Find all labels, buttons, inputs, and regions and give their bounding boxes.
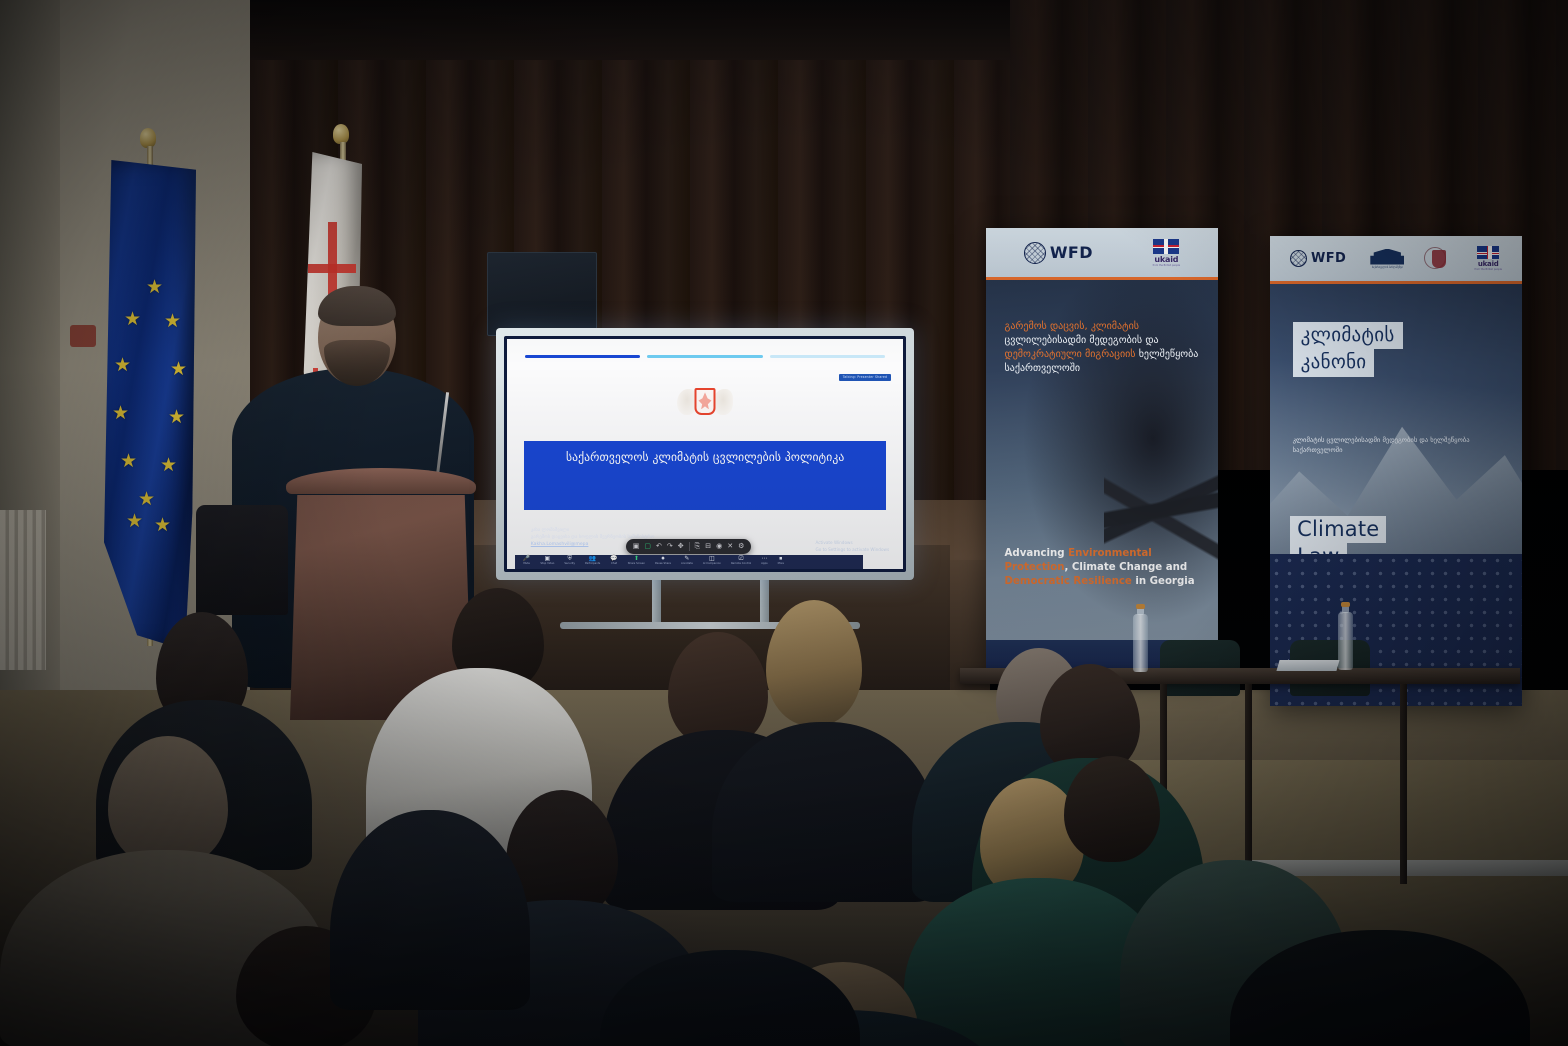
en-seg-5: in Georgia [1132, 576, 1195, 587]
annotate-button[interactable]: ✎ Annotate [681, 556, 693, 566]
spotlight-icon[interactable]: ▢ [644, 543, 651, 550]
geo-line-5: დემოკრატიული [1005, 349, 1082, 360]
remote-control-button[interactable]: ⎚ Remote Control [731, 556, 751, 566]
geo-line-1: გარემოს დაცვის, [1005, 321, 1091, 332]
geo-title-line-2: კანონი [1293, 349, 1375, 376]
banner-right-logo-strip: WFD საქართველოს პარლამენტი ukaid from th… [1270, 236, 1522, 284]
share-screen-button[interactable]: ⬆ Share Screen [628, 556, 645, 566]
tv-stand-leg [760, 580, 769, 624]
windows-activation-watermark: Activate Windows Go to Settings to activ… [815, 540, 889, 553]
mute-button[interactable]: 🎤 Mute [523, 556, 530, 566]
dead-tree-photo [1104, 391, 1218, 631]
pause-share-button[interactable]: ⏺ Pause Share [655, 556, 671, 566]
save-icon[interactable]: ⊟ [705, 543, 711, 550]
geo-title-line-1: კლიმატის [1293, 322, 1403, 349]
toolbar-divider [689, 542, 690, 551]
tv-stand-leg [652, 580, 661, 624]
parliament-building-icon [1370, 249, 1404, 265]
chat-button[interactable]: 💬 Chat [610, 556, 617, 566]
display-bezel: Talking: Presenter Shared საქართველოს კლ… [504, 336, 906, 572]
undo-icon[interactable]: ↶ [656, 543, 662, 550]
geo-line-4: და [1145, 335, 1158, 346]
record-icon[interactable]: ◉ [716, 543, 722, 550]
water-bottle [1338, 612, 1353, 670]
en-title-line-1: Climate [1290, 516, 1386, 543]
credit-speaker-name: კახა ლომაშვილი [531, 527, 655, 534]
flagpole-finial [333, 124, 349, 144]
zoom-annotation-toolbar[interactable]: ▣ ▢ ↶ ↷ ✥ ⎘ ⊟ ◉ ✕ ⚙ [626, 539, 752, 554]
progress-bar-1 [525, 355, 640, 358]
en-seg-3: , Climate Change and [1064, 562, 1187, 573]
participants-button[interactable]: 👥 Participants [585, 556, 600, 566]
watermark-line-2: Go to Settings to activate Windows [815, 547, 889, 553]
flagpole-finial [140, 128, 156, 148]
display-screen: Talking: Presenter Shared საქართველოს კლ… [496, 328, 914, 580]
table-leg [1245, 684, 1252, 884]
eu-flag: ★ ★ ★ ★ ★ ★ ★ ★ ★ ★ ★ ★ [104, 160, 196, 650]
ai-companion-button[interactable]: ◫ AI Companion [703, 556, 721, 566]
slide-title-band: საქართველოს კლიმატის ცვლილების პოლიტიკა [524, 441, 886, 510]
parliament-logo: საქართველოს პარლამენტი [1370, 249, 1404, 269]
geo-line-6: მიგრაციის [1085, 349, 1136, 360]
pa-speaker-box [487, 252, 597, 336]
geo-line-7: ხელშეწყობა [1136, 349, 1199, 360]
geo-line-3: ცვლილებისადმი მედეგობის [1005, 335, 1143, 346]
more-button[interactable]: ⏹ More [778, 556, 784, 566]
wfd-logo: WFD [1290, 250, 1346, 267]
banner-left-georgian-text: გარემოს დაცვის, კლიმატის ცვლილებისადმი მ… [1005, 320, 1200, 377]
talking-badge: Talking: Presenter Shared [839, 374, 891, 381]
radiator [0, 510, 46, 670]
slide-progress-bars [525, 355, 885, 358]
banner-right-georgian-sub: კლიმატის ცვლილებისადმი მედეგობის და ხელშ… [1293, 436, 1502, 456]
move-icon[interactable]: ✥ [678, 543, 684, 550]
slide-title: საქართველოს კლიმატის ცვლილების პოლიტიკა [524, 450, 886, 464]
apps-button[interactable]: ⋯ Apps [761, 556, 767, 566]
more-icon[interactable]: ⚙ [738, 543, 744, 550]
geo-line-2: კლიმატის [1091, 321, 1139, 332]
union-jack-icon [1153, 239, 1179, 254]
new-share-icon[interactable]: ⎘ [695, 543, 701, 550]
fire-alarm-icon [70, 325, 96, 347]
banner-left-english-text: Advancing Environmental Protection, Clim… [1005, 547, 1202, 589]
redo-icon[interactable]: ↷ [667, 543, 673, 550]
geo-line-8: საქართველოში [1005, 363, 1081, 374]
en-seg-4: Democratic Resilience [1005, 576, 1132, 587]
rollup-banner-left: WFD ukaid from the British people გარემო… [986, 228, 1218, 676]
shared-slide: Talking: Presenter Shared საქართველოს კლ… [507, 339, 903, 569]
zoom-meeting-controls[interactable]: 🎤 Mute ▣ Stop Video ⛨ Security 👥 Partici… [515, 555, 863, 569]
progress-bar-3 [770, 355, 885, 358]
banner-left-logo-strip: WFD ukaid from the British people [986, 228, 1218, 280]
paper-sheet [1276, 660, 1339, 671]
stop-video-button[interactable]: ▣ Stop Video [540, 556, 554, 566]
stage-curtain-top [250, 0, 1020, 60]
conference-room-scene: ★ ★ ★ ★ ★ ★ ★ ★ ★ ★ ★ ★ [0, 0, 1568, 1046]
stage-chair [196, 505, 288, 615]
security-button[interactable]: ⛨ Security [564, 556, 575, 566]
progress-bar-2 [647, 355, 762, 358]
wfd-globe-icon [1024, 242, 1046, 264]
rollup-banner-right: WFD საქართველოს პარლამენტი ukaid from th… [1270, 236, 1522, 706]
close-icon[interactable]: ✕ [727, 543, 733, 550]
ukaid-logo: ukaid from the British people [1153, 239, 1181, 267]
table-leg [1400, 684, 1407, 884]
water-bottle [1133, 614, 1148, 672]
banner-right-georgian-title: კლიმატის კანონი [1293, 322, 1403, 377]
select-icon[interactable]: ▣ [633, 543, 640, 550]
wfd-logo: WFD [1024, 242, 1093, 264]
banner-left-body: გარემოს დაცვის, კლიმატის ცვლილებისადმი მ… [986, 280, 1218, 676]
en-seg-1: Advancing [1005, 548, 1069, 559]
ukaid-logo: ukaid from the British people [1474, 246, 1502, 271]
union-jack-icon [1477, 246, 1499, 259]
georgia-coat-of-arms-icon [676, 380, 734, 428]
wfd-globe-icon [1290, 250, 1307, 267]
coat-of-arms-logo [1428, 249, 1450, 269]
